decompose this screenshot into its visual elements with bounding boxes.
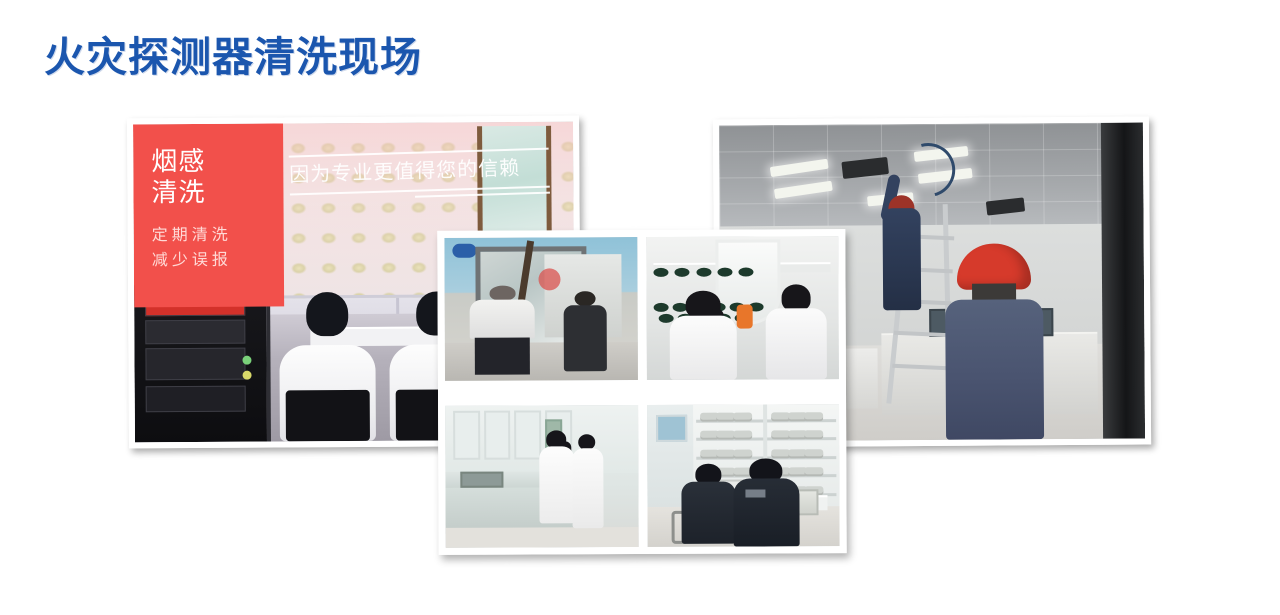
grid-cell-4[interactable] — [647, 404, 840, 547]
technician-side-view — [765, 285, 827, 379]
grid-cell-2[interactable] — [646, 236, 839, 379]
faint-grid-caption — [492, 389, 791, 390]
photo-grid — [444, 236, 839, 548]
grid-cell-1[interactable] — [444, 237, 637, 380]
person-dark-shirt — [564, 291, 607, 371]
lab-sink — [461, 472, 503, 488]
poster-canvas: 火灾探测器清洗现场 — [0, 0, 1280, 615]
promo-subline: 定期清洗 减少误报 — [152, 223, 266, 274]
operator-right — [733, 458, 799, 547]
slogan-text: 因为专业更值得您的信赖 — [289, 156, 550, 189]
promo-headline: 烟感 清洗 — [151, 146, 265, 209]
person-white-shirt — [470, 286, 536, 375]
wall-sign-icon — [452, 243, 476, 257]
dark-column — [1101, 123, 1146, 439]
orange-tool — [737, 305, 753, 329]
center-photo-grid-card[interactable] — [437, 229, 846, 555]
operator-left — [681, 464, 735, 544]
lab-worker-front — [539, 430, 574, 541]
worker-on-ladder — [880, 171, 923, 310]
technician-back-view — [669, 291, 737, 380]
grid-cell-3[interactable] — [445, 405, 638, 548]
promo-box[interactable]: 烟感 清洗 定期清洗 减少误报 — [133, 123, 284, 307]
page-title: 火灾探测器清洗现场 — [44, 30, 422, 84]
detector-row — [654, 268, 766, 278]
worker-red-helmet — [944, 243, 1043, 440]
lab-worker-back — [572, 435, 603, 535]
slogan-banner: 因为专业更值得您的信赖 — [289, 148, 550, 202]
technician-seated-left — [279, 291, 376, 441]
